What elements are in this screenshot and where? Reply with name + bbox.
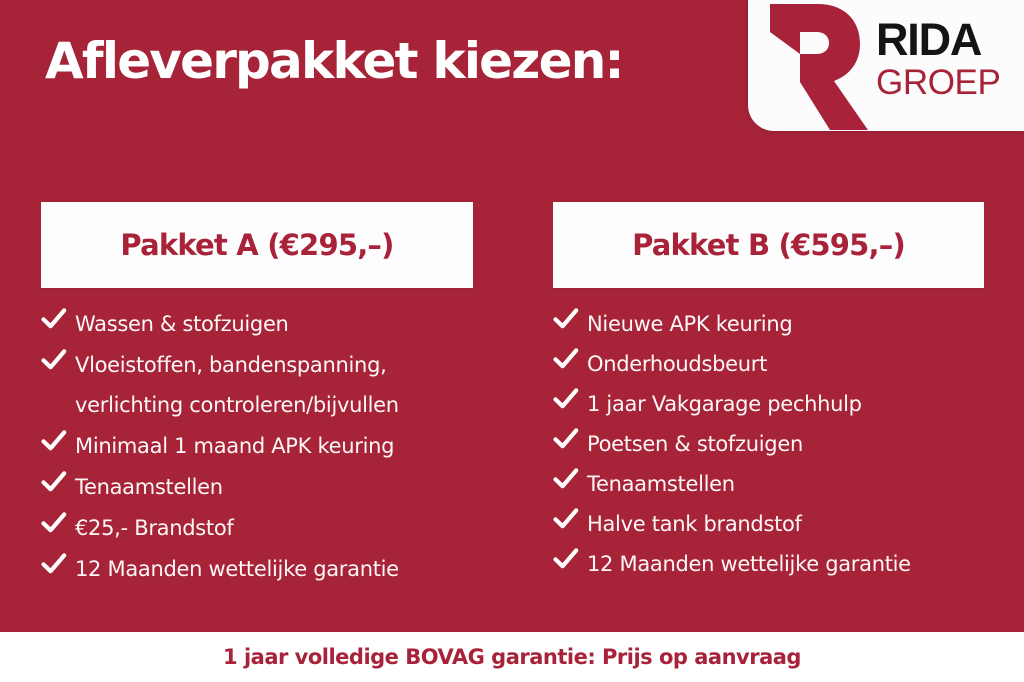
package-card-b[interactable]: Pakket B (€595,–) Nieuwe APK keuringOnde… <box>553 202 984 584</box>
check-icon <box>41 345 71 372</box>
package-b-header: Pakket B (€595,–) <box>553 202 984 288</box>
feature-text: Poetsen & stofzuigen <box>587 424 803 464</box>
check-icon <box>553 384 583 411</box>
footer-banner: 1 jaar volledige BOVAG garantie: Prijs o… <box>0 632 1024 682</box>
check-icon <box>553 304 583 331</box>
check-icon <box>553 504 583 531</box>
feature-text: Halve tank brandstof <box>587 504 802 544</box>
list-item: Tenaamstellen <box>41 467 473 507</box>
package-a-header: Pakket A (€295,–) <box>41 202 473 288</box>
list-item: Halve tank brandstof <box>553 504 984 544</box>
list-item: Tenaamstellen <box>553 464 984 504</box>
feature-text: Tenaamstellen <box>75 467 223 507</box>
feature-text: Vloeistoffen, bandenspanning,verlichting… <box>75 345 399 425</box>
logo-inner: RIDA GROEP <box>748 0 1024 131</box>
check-icon <box>41 467 71 494</box>
list-item: Nieuwe APK keuring <box>553 304 984 344</box>
check-icon <box>553 464 583 491</box>
list-item: 12 Maanden wettelijke garantie <box>41 549 473 589</box>
feature-text: Nieuwe APK keuring <box>587 304 792 344</box>
check-icon <box>553 344 583 371</box>
list-item: Onderhoudsbeurt <box>553 344 984 384</box>
feature-text: Wassen & stofzuigen <box>75 304 289 344</box>
list-item: Poetsen & stofzuigen <box>553 424 984 464</box>
package-b-feature-list: Nieuwe APK keuringOnderhoudsbeurt1 jaar … <box>553 288 984 584</box>
logo-subbrand-text: GROEP <box>876 64 1022 102</box>
logo-brand-text: RIDA <box>876 16 1022 64</box>
promo-poster: Afleverpakket kiezen: RIDA GROEP Pakket … <box>0 0 1024 682</box>
package-b-title: Pakket B (€595,–) <box>632 228 905 262</box>
feature-text: Onderhoudsbeurt <box>587 344 767 384</box>
check-icon <box>553 544 583 571</box>
check-icon <box>41 549 71 576</box>
package-card-a[interactable]: Pakket A (€295,–) Wassen & stofzuigenVlo… <box>41 202 473 590</box>
brand-logo-panel: RIDA GROEP <box>748 0 1024 131</box>
feature-text: Tenaamstellen <box>587 464 735 504</box>
check-icon <box>553 424 583 451</box>
list-item: 1 jaar Vakgarage pechhulp <box>553 384 984 424</box>
feature-text: 12 Maanden wettelijke garantie <box>587 544 911 584</box>
package-a-feature-list: Wassen & stofzuigenVloeistoffen, bandens… <box>41 288 473 589</box>
check-icon <box>41 304 71 331</box>
check-icon <box>41 426 71 453</box>
rida-r-mark-icon <box>756 2 876 130</box>
list-item: Wassen & stofzuigen <box>41 304 473 344</box>
feature-text: €25,- Brandstof <box>75 508 233 548</box>
feature-text: 1 jaar Vakgarage pechhulp <box>587 384 862 424</box>
feature-text: 12 Maanden wettelijke garantie <box>75 549 399 589</box>
logo-wordmark: RIDA GROEP <box>876 16 1022 102</box>
list-item: Minimaal 1 maand APK keuring <box>41 426 473 466</box>
feature-text: Minimaal 1 maand APK keuring <box>75 426 394 466</box>
list-item: €25,- Brandstof <box>41 508 473 548</box>
page-title: Afleverpakket kiezen: <box>45 28 623 94</box>
check-icon <box>41 508 71 535</box>
list-item: Vloeistoffen, bandenspanning,verlichting… <box>41 345 473 425</box>
package-a-title: Pakket A (€295,–) <box>120 228 393 262</box>
footer-text: 1 jaar volledige BOVAG garantie: Prijs o… <box>223 645 801 669</box>
list-item: 12 Maanden wettelijke garantie <box>553 544 984 584</box>
